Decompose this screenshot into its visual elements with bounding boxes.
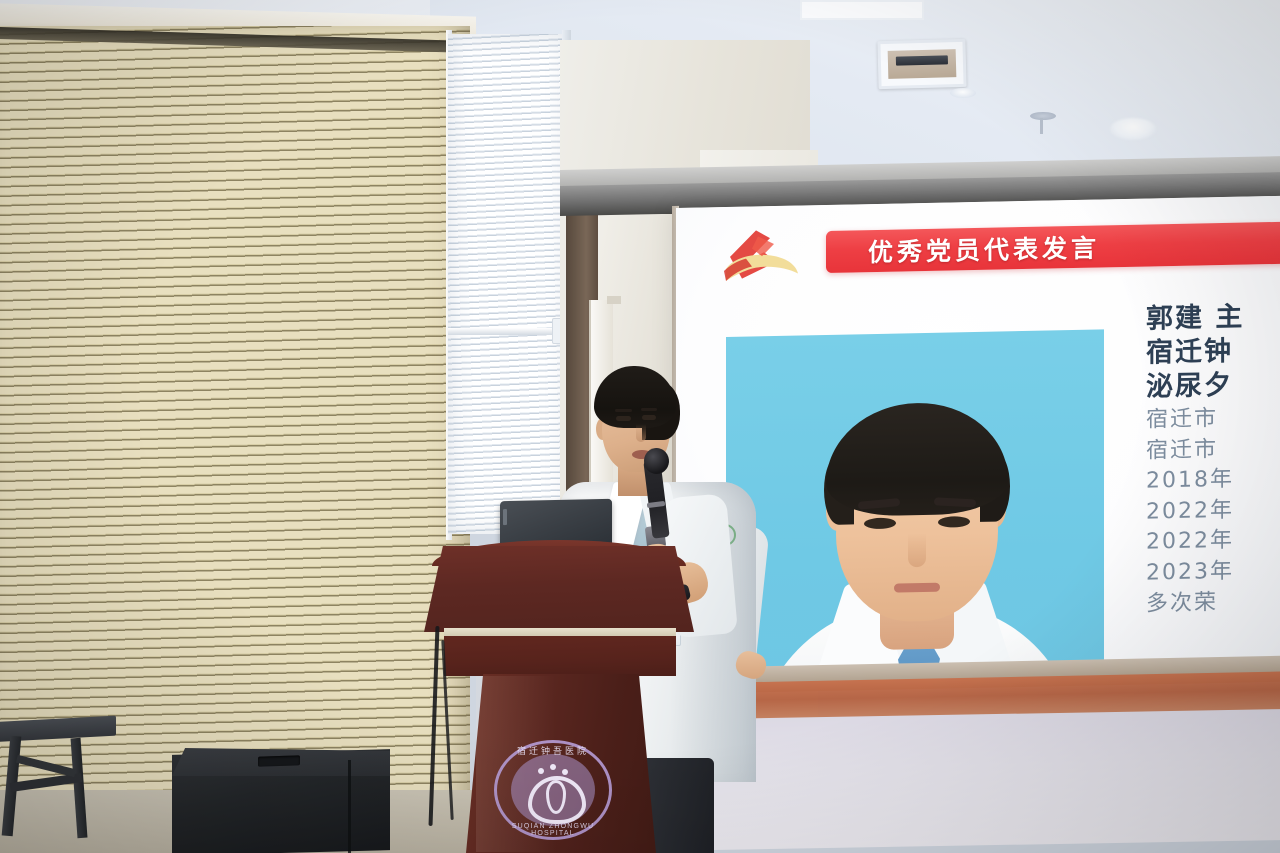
podium-top [424,546,694,632]
portrait-nose [908,533,926,567]
portrait-photo [726,329,1104,680]
slide-body-line: 宿迁市 [1146,403,1280,436]
conference-room-photo: 优秀党员代表发言 郭建 主 宿迁钟 泌尿夕 宿迁 [0,0,1280,853]
portrait-mouth [894,583,940,593]
podium-midsection [444,636,676,676]
slide-body-line: 宿迁市 [1146,433,1280,466]
slide-body-line: 2023年 [1146,556,1280,589]
slide-text-block: 郭建 主 宿迁钟 泌尿夕 宿迁市 宿迁市 2018年 2022年 2022年 2… [1146,299,1280,619]
air-vent-icon [877,39,966,89]
speaker-eye [642,415,656,420]
slide-body-line: 多次荣 [1146,586,1280,619]
spotlight-icon [1110,118,1156,140]
vent-inner [888,49,957,79]
sprinkler-stem [1040,118,1043,134]
slide-banner-text: 优秀党员代表发言 [868,228,1100,269]
sprinkler-head-icon [1030,112,1056,120]
window-louvers [448,34,570,534]
slide-heading: 宿迁钟 [1146,333,1280,371]
slide-heading: 泌尿夕 [1146,367,1280,405]
ccp-emblem-icon [712,221,804,293]
logo-dot [550,764,556,770]
logo-dot [538,768,544,774]
logo-text-chinese: 宿迁钟吾医院 [494,744,612,757]
speaker-eyebrow [641,408,657,411]
logo-dot [562,769,568,775]
pa-speaker-handle [258,755,300,766]
door-strip [607,296,621,304]
slide-heading: 郭建 主 [1146,299,1280,337]
hospital-logo: 宿迁钟吾医院 SUQIAN ZHONGWU HOSPITAL [494,740,612,840]
speaker-nose [636,424,646,442]
speaker-eyebrow [615,409,632,412]
vent-louver [896,55,948,65]
slide-body-line: 2022年 [1146,494,1280,527]
portrait-hair [826,401,1008,517]
ceiling-panel [800,0,924,20]
logo-text-english: SUQIAN ZHONGWU HOSPITAL [494,823,612,837]
downlight-icon [950,88,976,98]
slide-body-line: 2018年 [1146,464,1280,497]
pa-speaker-seam [348,760,351,853]
speaker-hair [594,366,676,428]
projection-screen: 优秀党员代表发言 郭建 主 宿迁钟 泌尿夕 宿迁 [676,196,1280,680]
laptop-logo-icon [503,509,507,525]
slide-body-line: 2022年 [1146,525,1280,558]
speaker-eye [616,416,631,421]
